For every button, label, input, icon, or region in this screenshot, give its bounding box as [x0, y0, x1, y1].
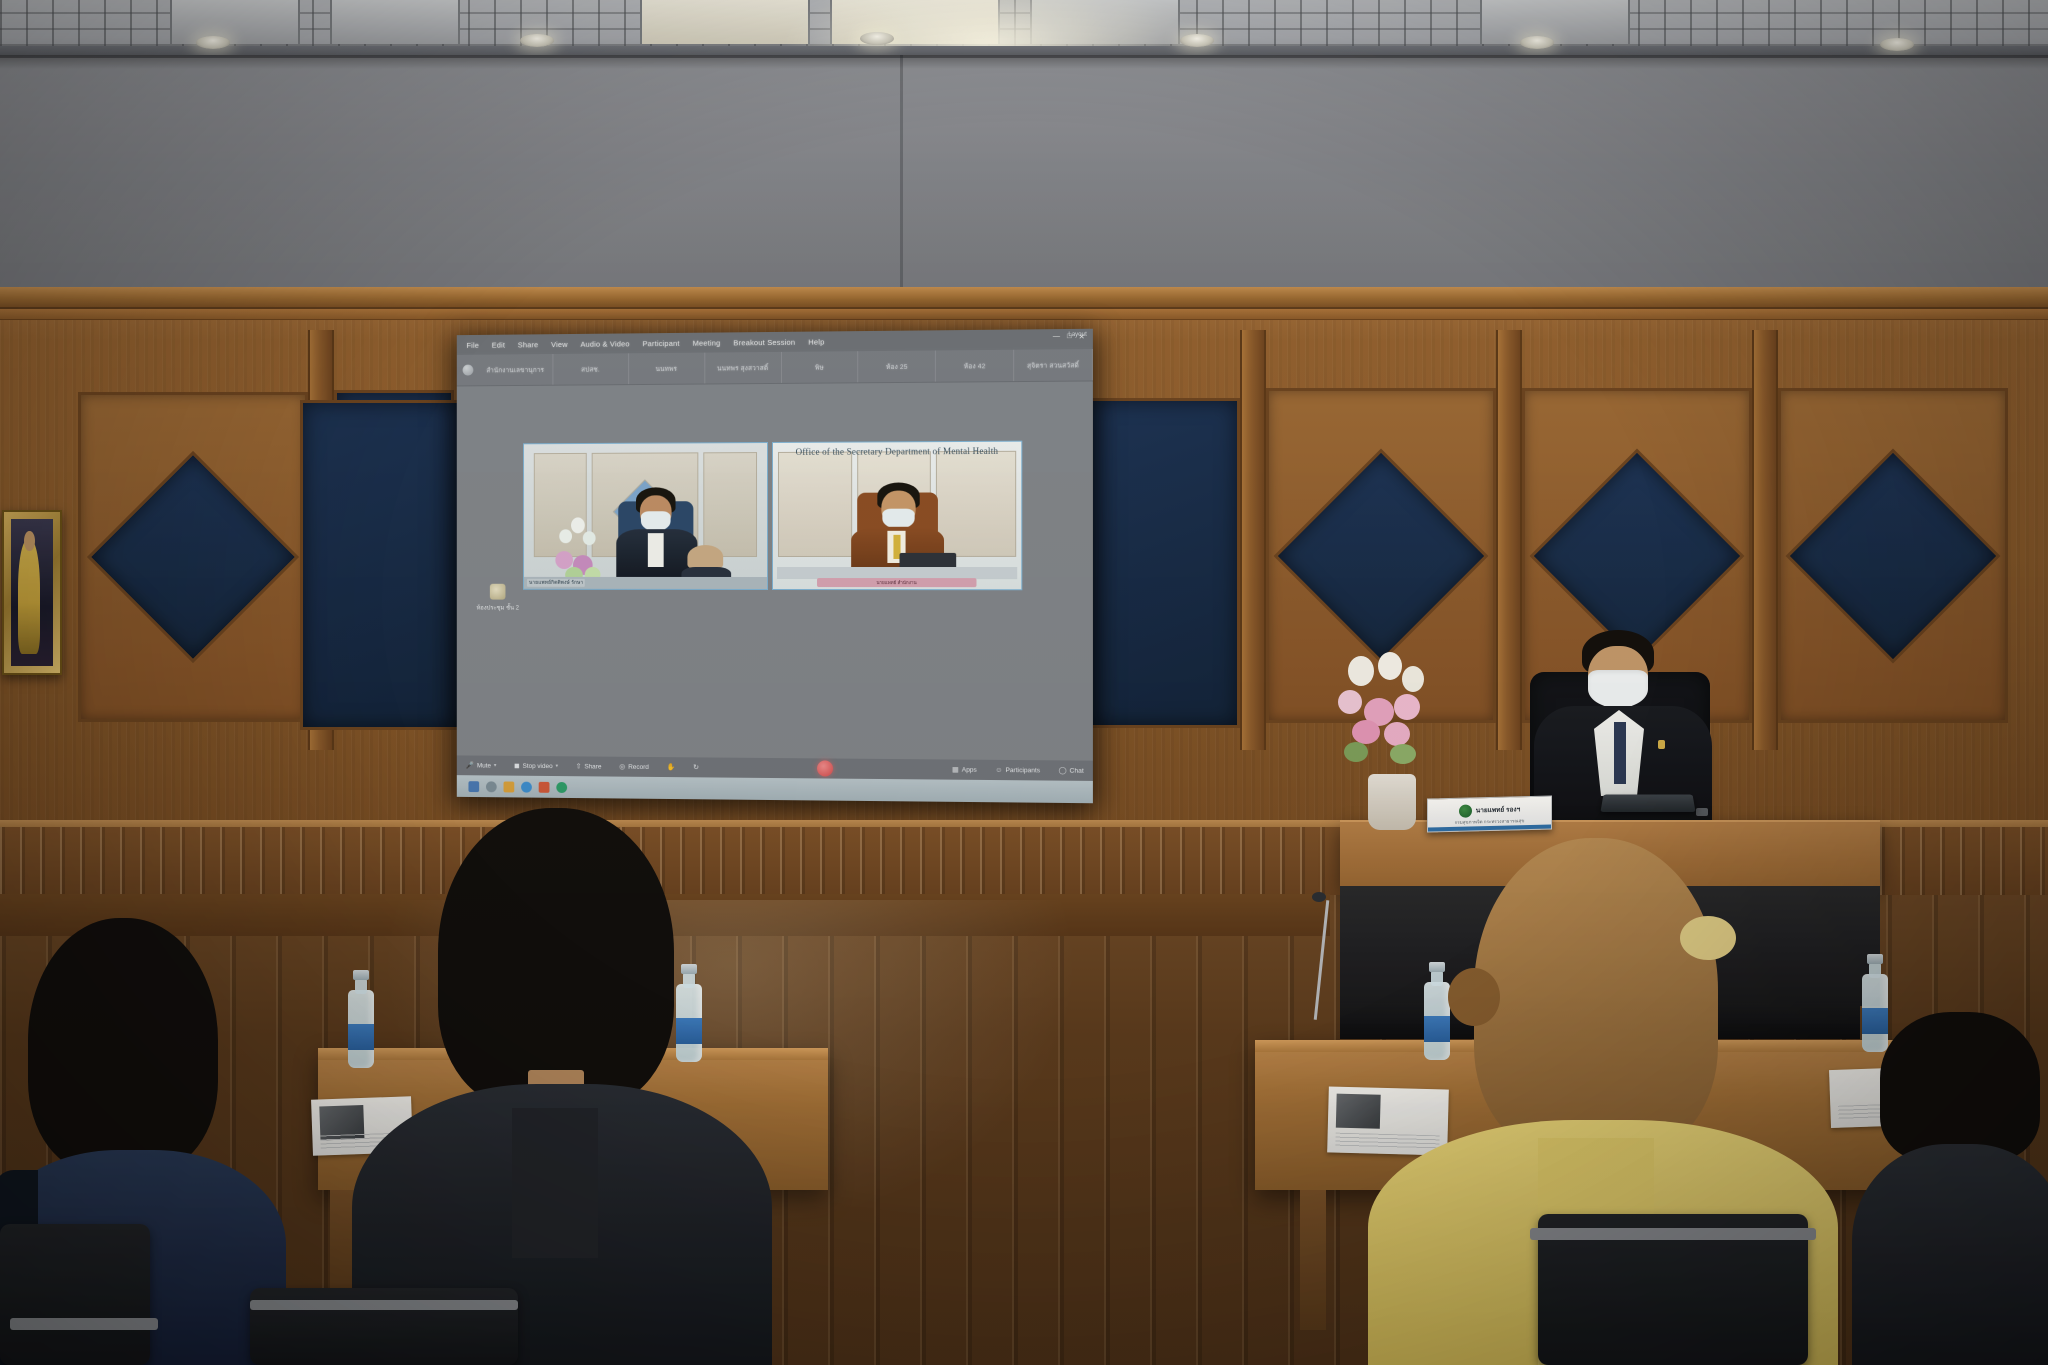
webex-icon[interactable] [556, 781, 567, 792]
flower-arrangement [1330, 650, 1450, 830]
wall-panel-dark-screen-left [300, 400, 460, 730]
camera-icon: ◼ [514, 762, 520, 770]
reactions-button[interactable]: ✋ [658, 763, 684, 771]
chat-label: Chat [1070, 767, 1084, 774]
microphone-head [1312, 892, 1326, 902]
self-avatar [457, 365, 478, 376]
menu-item-meeting[interactable]: Meeting [693, 338, 721, 347]
participant-tab-6[interactable]: ห้อง 25 [859, 350, 937, 382]
downlight-6 [1880, 38, 1914, 51]
participant-tab-2[interactable]: สปสช. [553, 353, 629, 384]
wall-panel-right-3 [1778, 388, 2008, 723]
video-stage: ห้องประชุม ชั้น 2 [457, 381, 1093, 762]
wall-panel-left [78, 392, 308, 722]
minimize-icon[interactable]: — [1053, 333, 1060, 341]
downlight-1 [196, 36, 230, 49]
search-icon[interactable] [486, 781, 497, 792]
projection-screen: File Edit Share View Audio & Video Parti… [457, 329, 1093, 803]
explorer-icon[interactable] [504, 781, 515, 792]
face-mask [1588, 670, 1648, 708]
record-button[interactable]: ◎ Record [610, 763, 657, 771]
apps-icon: ▦ [952, 766, 959, 774]
royal-portrait [2, 510, 62, 675]
stop-video-button[interactable]: ◼ Stop video ▾ [505, 762, 567, 770]
chat-button[interactable]: ◯ Chat [1049, 766, 1093, 774]
executive-tie [1614, 722, 1626, 784]
menu-item-breakout-session[interactable]: Breakout Session [733, 338, 795, 348]
menu-item-file[interactable]: File [467, 341, 480, 350]
vase [1368, 774, 1416, 830]
self-view-badge [490, 584, 506, 600]
browser-icon[interactable] [521, 781, 532, 792]
mail-icon[interactable] [539, 781, 550, 792]
participant-tab-4[interactable]: นนทพร สุงสวาสดิ์ [705, 352, 782, 384]
menu-item-audio-video[interactable]: Audio & Video [580, 339, 629, 348]
table-right-leg [1300, 1190, 1326, 1330]
video-tile-left[interactable]: นายแพทย์กิตติพงษ์ รักษา [523, 442, 768, 590]
video-tile-right-namestrip: นายแพทย์ สำนักงาน [817, 578, 976, 587]
more-options-icon: ↻ [693, 763, 699, 771]
apps-label: Apps [962, 766, 977, 773]
wall-cornice-secondary [0, 309, 2048, 320]
video-tile-left-caption: นายแพทย์กิตติพงษ์ รักษา [527, 579, 585, 587]
audience-person-4 [1862, 1012, 2048, 1365]
downlight-3 [860, 32, 894, 45]
hair-tie [1680, 916, 1736, 960]
ceiling-beam [0, 46, 2048, 55]
chair-frame-2 [250, 1300, 518, 1310]
participants-label: Participants [1005, 767, 1040, 774]
stop-video-label: Stop video [523, 762, 553, 769]
office-chair-1[interactable] [0, 1224, 150, 1365]
more-options-button[interactable]: ↻ [684, 763, 708, 771]
menu-item-share[interactable]: Share [518, 340, 539, 349]
menu-item-edit[interactable]: Edit [492, 341, 505, 350]
share-icon: ⇧ [576, 762, 582, 770]
chevron-down-icon[interactable]: ▾ [494, 763, 496, 769]
record-label: Record [628, 763, 649, 770]
menu-item-view[interactable]: View [551, 340, 568, 349]
end-meeting-button[interactable] [817, 760, 833, 776]
lapel-pin [1658, 740, 1665, 749]
record-icon: ◎ [619, 763, 625, 771]
video-tile-right-banner: Office of the Secretary Department of Me… [773, 446, 1021, 457]
conference-room-photo: File Edit Share View Audio & Video Parti… [0, 0, 2048, 1365]
mute-button[interactable]: 🎤 Mute ▾ [457, 761, 505, 769]
people-icon: ☺ [995, 766, 1002, 773]
mute-label: Mute [477, 762, 491, 769]
self-view-name: ห้องประชุม ชั้น 2 [468, 603, 527, 613]
participant-tab-3[interactable]: นนทพร [629, 353, 705, 385]
share-button[interactable]: ⇧ Share [567, 762, 610, 770]
upper-wall [0, 55, 2048, 287]
menu-item-help[interactable]: Help [808, 337, 824, 346]
menu-item-participant[interactable]: Participant [642, 339, 679, 348]
downlight-2 [520, 34, 554, 47]
audience-person-2 [352, 808, 772, 1365]
share-label: Share [584, 763, 601, 770]
laptop[interactable] [1600, 795, 1695, 812]
microphone-icon: 🎤 [466, 761, 474, 769]
participant-tab-5[interactable]: พิษ [781, 351, 858, 383]
nameplate-subtitle: กรมสุขภาพจิต กระทรวงสาธารณสุข [1455, 817, 1525, 826]
video-conference-window: File Edit Share View Audio & Video Parti… [457, 329, 1093, 803]
video-tile-right[interactable]: Office of the Secretary Department of Me… [772, 441, 1022, 591]
wall-pilaster-2 [1240, 330, 1266, 750]
flower-arrangement-in-video [549, 515, 606, 585]
participant-tab-strip: สำนักงานเลขานุการ สปสช. นนทพร นนทพร สุงส… [457, 349, 1093, 386]
downlight-4 [1180, 34, 1214, 47]
wall-pilaster-4 [1752, 330, 1778, 750]
layout-button[interactable]: Layout [1068, 332, 1086, 338]
wall-panel-dark-screen-right [1090, 398, 1240, 728]
ministry-logo-icon [1459, 804, 1472, 817]
wall-cornice [0, 287, 2048, 309]
chair-frame-3 [1530, 1228, 1816, 1240]
participants-button[interactable]: ☺ Participants [986, 766, 1049, 774]
windows-icon[interactable] [468, 781, 479, 792]
participant-tab-8[interactable]: สุจิตรา สวนสวัสดิ์ [1014, 349, 1093, 381]
downlight-5 [1520, 36, 1554, 49]
nameplate-name: นายแพทย์ รองฯ [1476, 804, 1521, 815]
participant-tab-7[interactable]: ห้อง 42 [936, 350, 1014, 382]
self-view-label: ห้องประชุม ชั้น 2 [468, 584, 527, 613]
chevron-down-icon-2[interactable]: ▾ [556, 763, 558, 769]
reactions-icon: ✋ [667, 763, 676, 771]
participant-tab-1[interactable]: สำนักงานเลขานุการ [478, 354, 553, 385]
apps-button[interactable]: ▦ Apps [943, 765, 986, 773]
chat-bubble-icon: ◯ [1059, 766, 1067, 774]
wristwatch [1696, 808, 1708, 816]
chair-frame-1 [10, 1318, 158, 1330]
